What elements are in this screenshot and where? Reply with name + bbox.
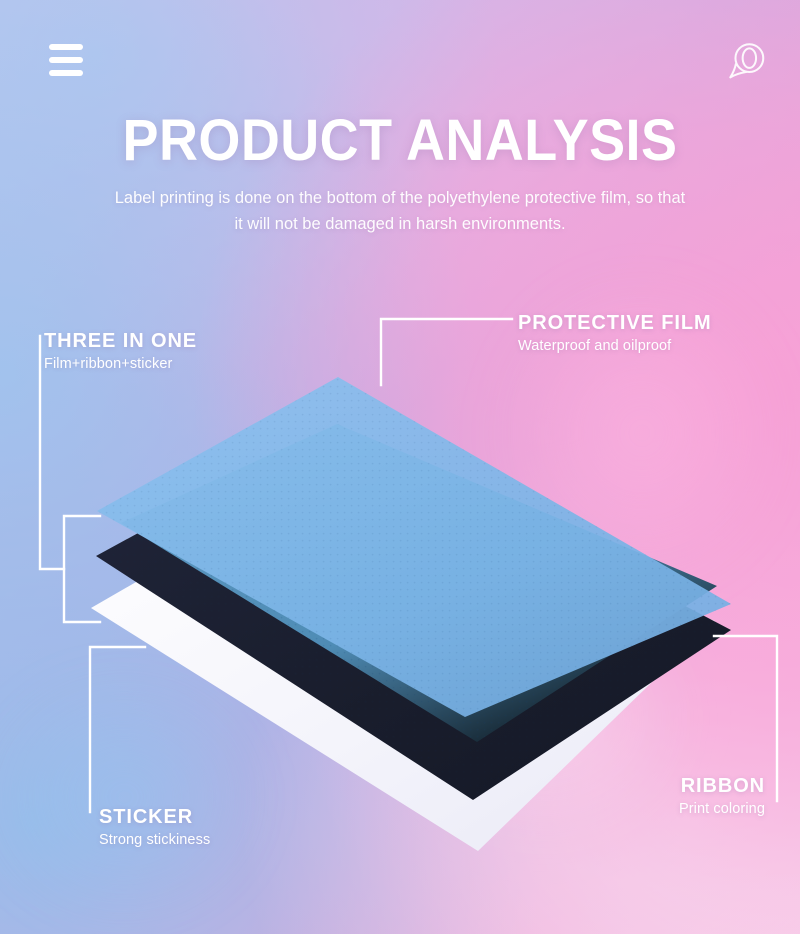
callout-three-in-one-title: THREE IN ONE	[44, 330, 197, 353]
callout-ribbon-title: RIBBON	[560, 775, 765, 798]
callout-protective-film-subtitle: Waterproof and oilproof	[518, 337, 712, 356]
callout-ribbon-subtitle: Print coloring	[560, 800, 765, 819]
callout-sticker-title: STICKER	[99, 806, 210, 829]
callout-three-in-one-subtitle: Film+ribbon+sticker	[44, 355, 197, 374]
callout-protective-film-title: PROTECTIVE FILM	[518, 312, 712, 335]
callout-sticker-subtitle: Strong stickiness	[99, 831, 210, 850]
callout-three-in-one: THREE IN ONE Film+ribbon+sticker	[44, 330, 197, 374]
callout-ribbon: RIBBON Print coloring	[560, 775, 765, 819]
callout-protective-film: PROTECTIVE FILM Waterproof and oilproof	[518, 312, 712, 356]
product-analysis-page: PRODUCT ANALYSIS Label printing is done …	[0, 0, 800, 934]
callout-sticker: STICKER Strong stickiness	[99, 806, 210, 850]
